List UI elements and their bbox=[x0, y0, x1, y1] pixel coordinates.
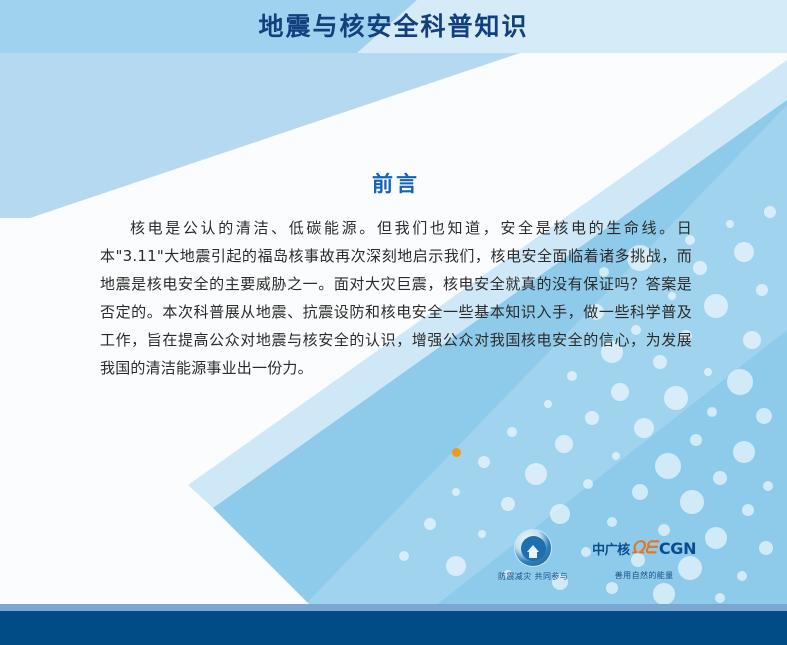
bubble-dot bbox=[763, 481, 773, 491]
footer-accent-strip bbox=[0, 604, 787, 611]
earthquake-shelter-seal-icon bbox=[515, 530, 551, 566]
logo-row: 防震减灾 共同参与 中广核 ᘯᗴ CGN 善用自然的能量 bbox=[498, 530, 748, 586]
cea-logo-caption: 防震减灾 共同参与 bbox=[498, 571, 568, 582]
content-area: 前言 核电是公认的清洁、低碳能源。但我们也知道，安全是核电的生命线。日本"3.1… bbox=[100, 168, 692, 382]
cgn-english-text: CGN bbox=[659, 539, 696, 558]
page-title: 地震与核安全科普知识 bbox=[0, 0, 787, 53]
bubble-dot bbox=[653, 583, 675, 605]
cgn-swirl-icon: ᘯᗴ bbox=[632, 540, 657, 557]
bubble-dot bbox=[632, 484, 648, 500]
poster-root: 地震与核安全科普知识 前言 核电是公认的清洁、低碳能源。但我们也知道，安全是核电… bbox=[0, 0, 787, 645]
cgn-chinese-text: 中广核 bbox=[592, 539, 630, 558]
bubble-dot bbox=[715, 593, 725, 603]
bubble-dot bbox=[690, 434, 702, 446]
bubble-dot bbox=[707, 407, 717, 417]
preface-body-text: 核电是公认的清洁、低碳能源。但我们也知道，安全是核电的生命线。日本"3.11"大… bbox=[100, 214, 692, 382]
bubble-dot bbox=[713, 471, 727, 485]
footer-bar bbox=[0, 611, 787, 645]
section-title: 前言 bbox=[100, 168, 692, 198]
cgn-logo-caption: 善用自然的能量 bbox=[615, 570, 674, 581]
bubble-dot bbox=[655, 453, 681, 479]
orange-accent-dot bbox=[452, 448, 461, 457]
house-icon bbox=[527, 545, 539, 552]
cgn-logo: 中广核 ᘯᗴ CGN 善用自然的能量 bbox=[592, 530, 696, 581]
bubble-dot bbox=[742, 504, 754, 516]
bubble-dot bbox=[759, 541, 773, 555]
cea-logo: 防震减灾 共同参与 bbox=[498, 530, 568, 582]
cgn-wordmark: 中广核 ᘯᗴ CGN bbox=[592, 530, 696, 566]
bubble-dot bbox=[607, 517, 617, 527]
seal-inner-disc bbox=[521, 536, 546, 561]
bubble-dot bbox=[733, 441, 755, 463]
bubble-dot bbox=[756, 408, 772, 424]
bubble-dot bbox=[680, 490, 704, 514]
